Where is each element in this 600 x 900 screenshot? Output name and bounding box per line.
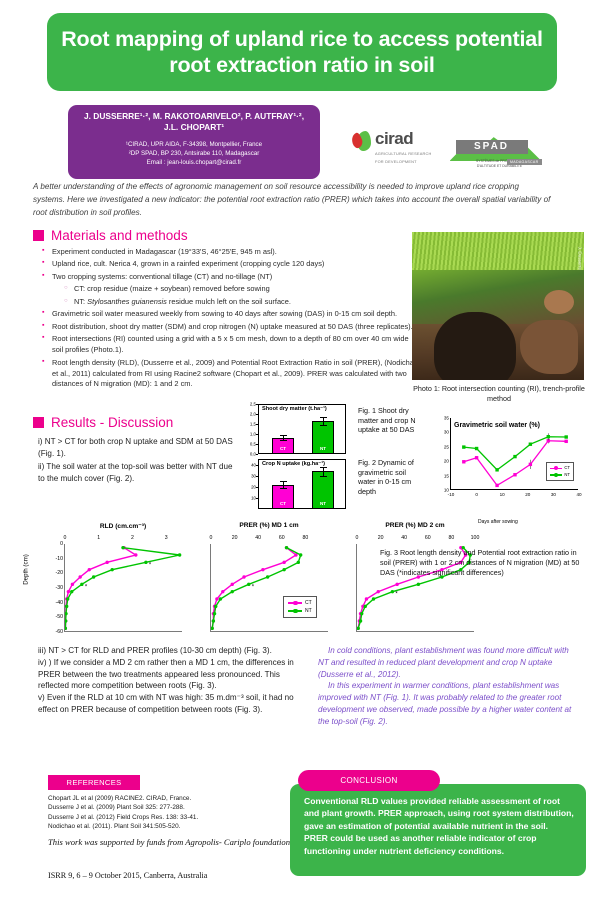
bar-label: NT xyxy=(313,501,333,506)
author-names: J. DUSSERRE¹·², M. RAKOTOARIVELO², P. AU… xyxy=(76,111,312,134)
reference-item: Chopart JL et al (2009) RACINE2. CIRAD, … xyxy=(48,794,288,803)
photo-arm xyxy=(520,320,578,374)
cirad-tagline-2: FOR DEVELOPMENT xyxy=(375,159,432,165)
materials-list-item: Root distribution, shoot dry matter (SDM… xyxy=(40,322,420,333)
x-axis-tick-label: 100 xyxy=(471,535,480,541)
cirad-leaf-icon xyxy=(352,130,372,152)
poster-title-banner: Root mapping of upland rice to access po… xyxy=(47,13,557,91)
cirad-tagline-1: AGRICULTURAL RESEARCH xyxy=(375,151,432,157)
y-axis-tick-label: 0,5 xyxy=(238,442,256,447)
svg-text:*: * xyxy=(252,584,255,590)
materials-list-item: Upland rice, cult. Nerica 4, grown in a … xyxy=(40,259,420,270)
chart-gravimetric-soil-water: Gravimetric soil water (%)101520253035-1… xyxy=(432,404,584,508)
bar-label: CT xyxy=(273,446,293,451)
legend-label: CT xyxy=(305,599,312,607)
results-heading-label: Results - Discussion xyxy=(51,415,173,430)
y-axis-tick-label: 35 xyxy=(434,416,449,421)
y-axis-tick-label: 2,5 xyxy=(238,402,256,407)
x-axis-tick-label: -10 xyxy=(448,492,455,497)
figure-2-caption: Fig. 2 Dynamic of gravimetric soil water… xyxy=(358,458,420,497)
materials-list-item: Root intersections (RI) counted using a … xyxy=(40,334,420,356)
chart-crop-n-uptake: Crop N uptake (kg.ha⁻¹)10203040CTNT xyxy=(238,456,348,511)
x-axis-tick-label: 20 xyxy=(232,535,238,541)
y-axis-tick-label: -50 xyxy=(50,614,63,620)
depth-profile-panel: 01230-10-20-30-40-50-60** xyxy=(64,544,182,632)
chart-title: PRER (%) MD 1 cm xyxy=(200,522,338,529)
contact-email: Email : jean-louis.chopart@cirad.fr xyxy=(76,158,312,167)
figure-3-caption: Fig. 3 Root length density and Potential… xyxy=(380,548,585,578)
authors-block: J. DUSSERRE¹·², M. RAKOTOARIVELO², P. AU… xyxy=(68,105,320,179)
spad-wordmark: SPAD xyxy=(456,140,528,154)
discussion-paragraph: In this experiment in warmer conditions,… xyxy=(318,680,580,727)
chart-legend: CTNT xyxy=(283,596,317,618)
spad-logo: SPAD SYSTÈMES de PRODUCTION D'ALTITUDE E… xyxy=(450,125,542,169)
y-axis-tick-label: 1,5 xyxy=(238,422,256,427)
photo-hand xyxy=(544,290,574,314)
y-axis-tick-label: -30 xyxy=(50,585,63,591)
spad-country-badge: MADAGASCAR xyxy=(507,159,542,165)
y-axis-tick-label: -10 xyxy=(50,556,63,562)
results-points-top: i) NT > CT for both crop N uptake and SD… xyxy=(38,436,238,485)
x-axis-tick-label: 0 xyxy=(475,492,478,497)
plot-area: 101520253035-10010203040CTNT xyxy=(450,418,578,490)
y-axis-tick-label: 2,0 xyxy=(238,412,256,417)
bar-label: NT xyxy=(313,446,333,451)
y-axis-tick-label: 15 xyxy=(434,473,449,478)
poster-root: Root mapping of upland rice to access po… xyxy=(0,0,600,900)
y-axis-tick-label: 1,0 xyxy=(238,432,256,437)
conclusion-tab: CONCLUSION xyxy=(298,770,440,791)
photo-credit: J. Dusserre xyxy=(577,247,582,271)
materials-list-item: Gravimetric soil water measured weekly f… xyxy=(40,309,420,320)
y-axis-tick-label: -60 xyxy=(50,629,63,635)
results-point: i) NT > CT for both crop N uptake and SD… xyxy=(38,436,238,461)
results-point: iv) ) If we consider a MD 2 cm rather th… xyxy=(38,657,308,692)
materials-list-item: Two cropping systems: conventional tilla… xyxy=(40,272,420,283)
affiliation-2: ²DP SPAD, BP 230, Antsirabe 110, Madagas… xyxy=(76,149,312,158)
reference-item: Nodichao et al. (2011). Plant Soil 341:5… xyxy=(48,822,288,831)
results-point: iii) NT > CT for RLD and PRER profiles (… xyxy=(38,645,308,657)
conclusion-box: Conventional RLD values provided reliabl… xyxy=(290,784,586,876)
x-axis-tick-label: 20 xyxy=(525,492,530,497)
chart-title: PRER (%) MD 2 cm xyxy=(346,522,484,529)
y-axis-tick-label: 20 xyxy=(434,459,449,464)
results-points-bottom: iii) NT > CT for RLD and PRER profiles (… xyxy=(38,645,308,716)
materials-list-item: CT: crop residue (maize + soybean) remov… xyxy=(40,284,420,295)
photo-person xyxy=(434,312,516,380)
references-tab: REFERENCES xyxy=(48,775,140,790)
x-axis-tick-label: 40 xyxy=(401,535,407,541)
chart-title: RLD (cm.cm⁻³) xyxy=(54,522,192,530)
x-axis-tick-label: 80 xyxy=(449,535,455,541)
discussion-text: In cold conditions, plant establishment … xyxy=(318,645,580,728)
y-axis-tick-label: -20 xyxy=(50,570,63,576)
x-axis-tick-label: 1 xyxy=(97,535,100,541)
x-axis-tick-label: 20 xyxy=(378,535,384,541)
x-axis-tick-label: 80 xyxy=(303,535,309,541)
chart-legend: CTNT xyxy=(546,462,574,481)
figure-1-caption: Fig. 1 Shoot dry matter and crop N uptak… xyxy=(358,406,420,435)
y-axis-tick-label: 25 xyxy=(434,444,449,449)
svg-text:*: * xyxy=(395,592,398,598)
photo-grass-region xyxy=(412,232,584,270)
cirad-wordmark: cirad xyxy=(375,129,413,148)
depth-profile-panel: 020406080* xyxy=(210,544,328,632)
legend-label: NT xyxy=(564,472,570,478)
trench-profile-photo: J. Dusserre xyxy=(412,232,584,380)
bar-nt: NT xyxy=(312,471,334,509)
page-title: Root mapping of upland rice to access po… xyxy=(47,26,557,78)
logo-strip: cirad AGRICULTURAL RESEARCH FOR DEVELOPM… xyxy=(352,116,582,178)
materials-list-item: Root length density (RLD), (Dusserre et … xyxy=(40,358,420,391)
reference-item: Dusserre J et al. (2012) Field Crops Res… xyxy=(48,813,288,822)
legend-label: NT xyxy=(305,607,312,615)
y-axis-label: Depth (cm) xyxy=(23,554,30,585)
results-heading: Results - Discussion xyxy=(33,415,173,430)
results-point: ii) The soil water at the top-soil was b… xyxy=(38,461,238,486)
materials-heading: Materials and methods xyxy=(33,228,188,243)
x-axis-tick-label: 0 xyxy=(210,535,213,541)
abstract-text: A better understanding of the effects of… xyxy=(33,180,553,219)
materials-list-item: NT: Stylosanthes guianensis residue mulc… xyxy=(40,297,420,308)
conference-note: ISRR 9, 6 – 9 October 2015, Canberra, Au… xyxy=(48,871,328,880)
conclusion-text: Conventional RLD values provided reliabl… xyxy=(304,795,574,857)
y-axis-tick-label: 0 xyxy=(50,541,63,547)
x-axis-tick-label: 10 xyxy=(500,492,505,497)
affiliation-1: ¹CIRAD, UPR AIDA, F-34398, Montpellier, … xyxy=(76,140,312,149)
error-bar xyxy=(323,467,324,476)
x-axis-tick-label: 60 xyxy=(425,535,431,541)
square-bullet-icon xyxy=(33,230,44,241)
reference-item: Dusserre J et al. (2009) Plant Soil 325:… xyxy=(48,803,288,812)
x-axis-tick-label: 3 xyxy=(165,535,168,541)
cirad-logo: cirad AGRICULTURAL RESEARCH FOR DEVELOPM… xyxy=(352,130,432,165)
x-axis-tick-label: 2 xyxy=(131,535,134,541)
error-bar xyxy=(283,481,284,488)
x-axis-tick-label: 0 xyxy=(64,535,67,541)
y-axis-tick-label: 40 xyxy=(238,462,256,467)
y-axis-tick-label: 20 xyxy=(238,484,256,489)
error-bar xyxy=(323,417,324,426)
y-axis-tick-label: 10 xyxy=(238,495,256,500)
figure-3-depth-profiles: Depth (cm)RLD (cm.cm⁻³)01230-10-20-30-40… xyxy=(28,522,378,634)
figure-1-bar-charts: Shoot dry matter (t.ha⁻¹)0,00,51,01,52,0… xyxy=(238,401,348,513)
funding-note: This work was supported by funds from Ag… xyxy=(48,836,298,848)
y-axis-tick-label: 30 xyxy=(434,430,449,435)
discussion-paragraph: In cold conditions, plant establishment … xyxy=(318,645,580,680)
svg-text:*: * xyxy=(85,584,88,590)
materials-list: Experiment conducted in Madagascar (19°3… xyxy=(40,247,420,392)
y-axis-tick-label: -40 xyxy=(50,600,63,606)
x-axis-tick-label: 0 xyxy=(356,535,359,541)
chart-shoot-dry-matter: Shoot dry matter (t.ha⁻¹)0,00,51,01,52,0… xyxy=(238,401,348,456)
photo-caption: Photo 1: Root intersection counting (RI)… xyxy=(404,384,594,404)
materials-list-item: Experiment conducted in Madagascar (19°3… xyxy=(40,247,420,258)
x-axis-tick-label: 40 xyxy=(255,535,261,541)
square-bullet-icon xyxy=(33,417,44,428)
materials-heading-label: Materials and methods xyxy=(51,228,188,243)
references-list: Chopart JL et al (2009) RACINE2. CIRAD, … xyxy=(48,794,288,831)
x-axis-tick-label: 40 xyxy=(576,492,581,497)
x-axis-tick-label: 60 xyxy=(279,535,285,541)
svg-text:*: * xyxy=(149,562,152,568)
y-axis-tick-label: 30 xyxy=(238,473,256,478)
x-axis-tick-label: 30 xyxy=(551,492,556,497)
results-point: v) Even if the RLD at 10 cm with NT was … xyxy=(38,692,308,716)
bar-label: CT xyxy=(273,501,293,506)
